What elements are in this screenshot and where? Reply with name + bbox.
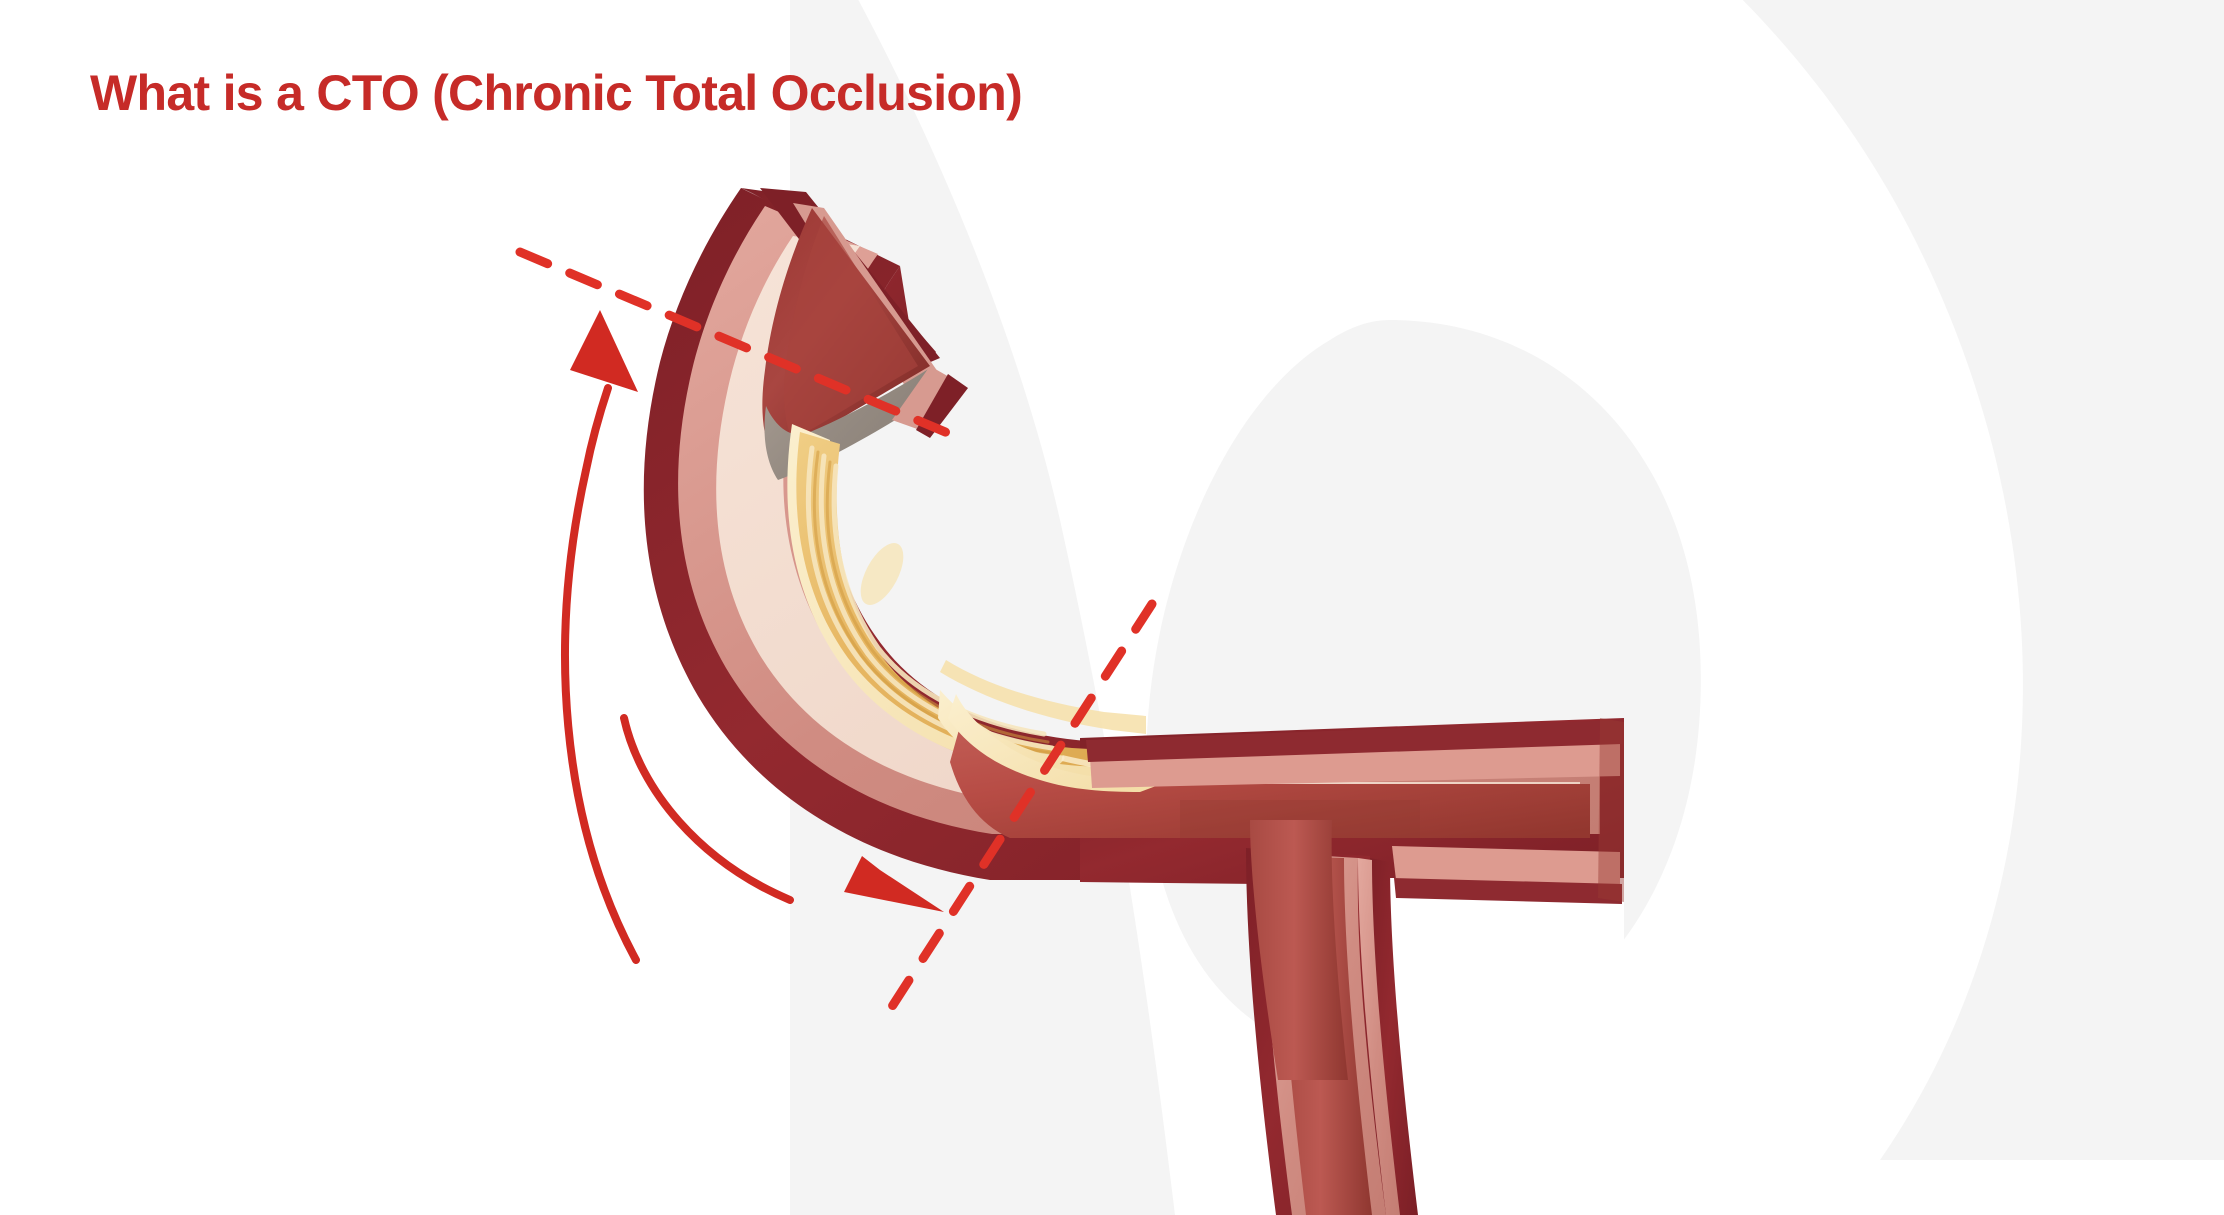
right-trunk-cut-end	[1598, 718, 1624, 902]
plaque-highlight-spot	[852, 536, 912, 611]
artery-illustration	[0, 0, 2224, 1215]
proximal-cap-arrow	[565, 310, 638, 960]
illustration-canvas: What is a CTO (Chronic Total Occlusion)	[0, 0, 2224, 1215]
bifurcation-crotch	[1380, 878, 1624, 1215]
page-title: What is a CTO (Chronic Total Occlusion)	[90, 68, 1022, 118]
